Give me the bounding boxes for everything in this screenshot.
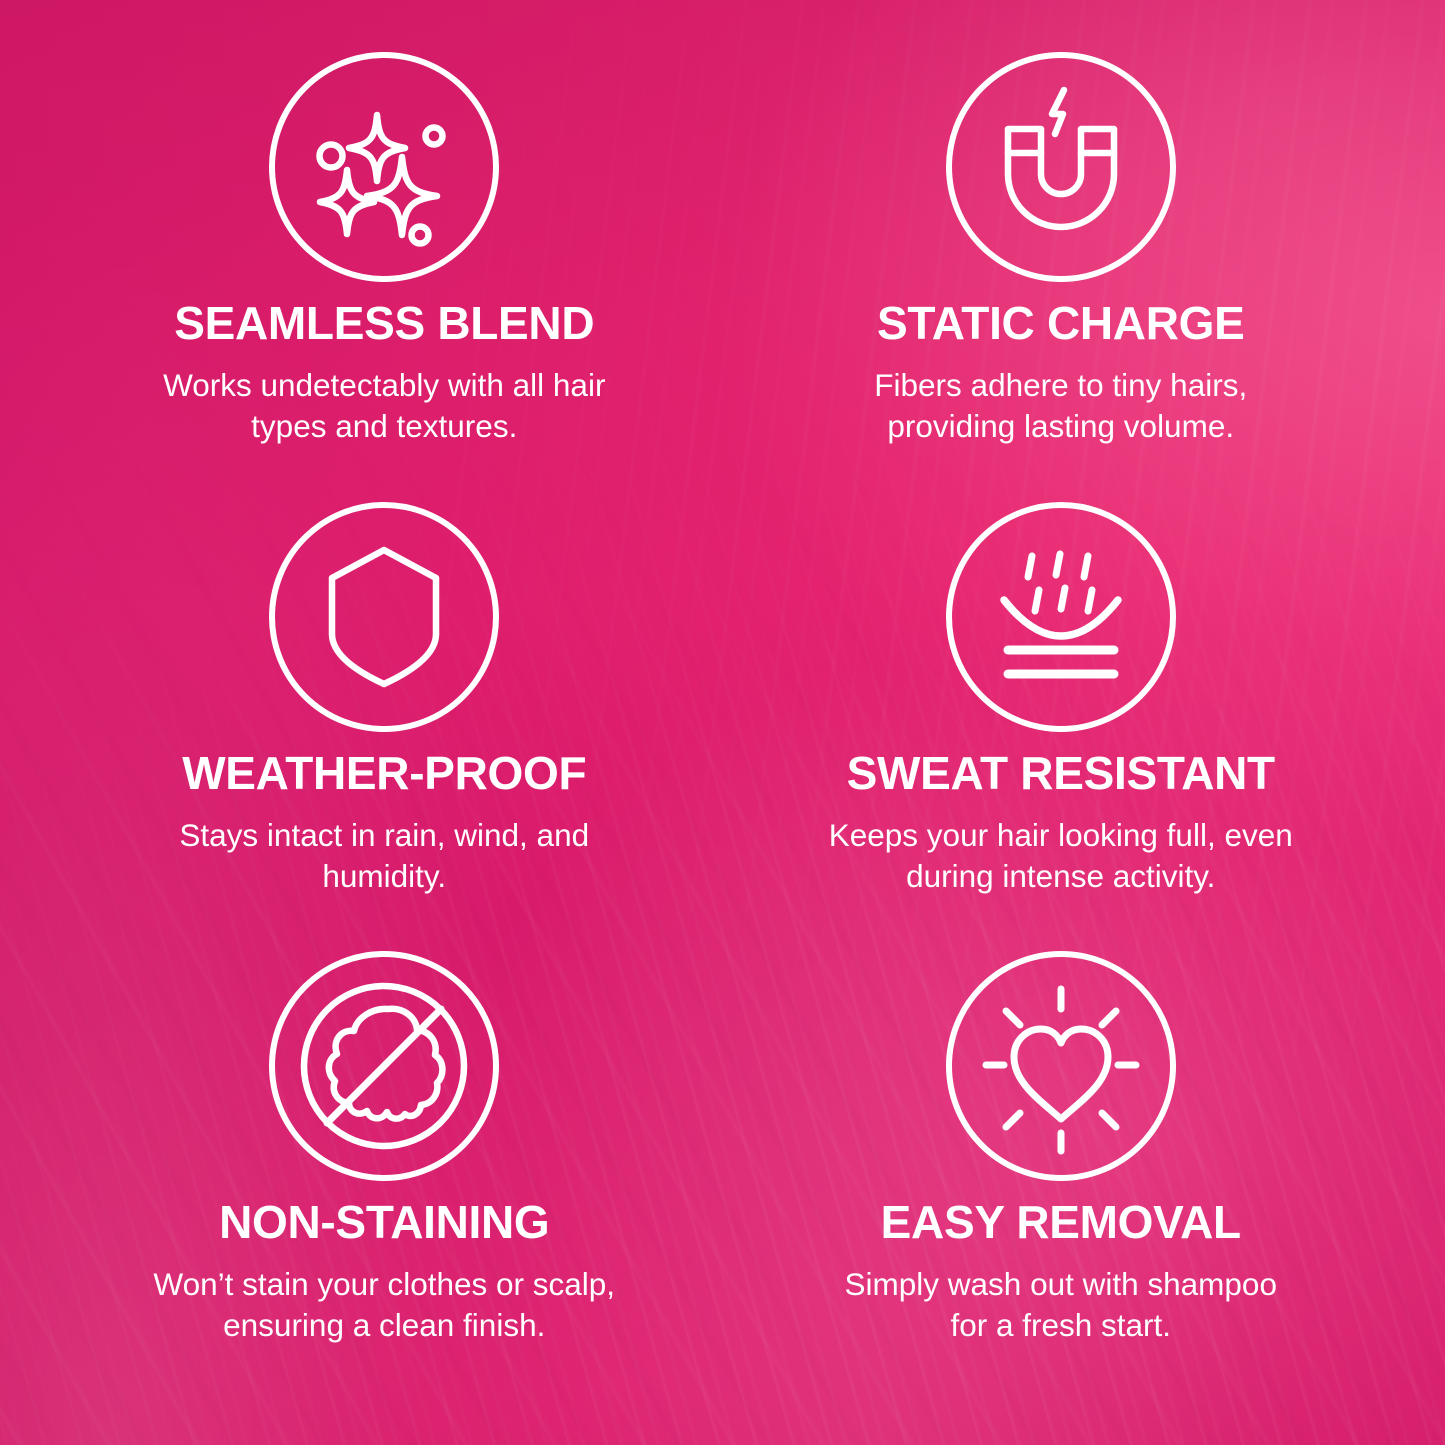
feature-title: WEATHER-PROOF <box>182 750 586 796</box>
features-grid: SEAMLESS BLEND Works undetectably with a… <box>0 0 1445 1445</box>
feature-title: SEAMLESS BLEND <box>174 300 594 346</box>
water-repellent-icon <box>946 502 1176 732</box>
feature-card-non-staining: NON-STAINING Won’t stain your clothes or… <box>46 951 723 1401</box>
feature-description: Stays intact in rain, wind, and humidity… <box>149 815 619 897</box>
feature-grid-infographic: SEAMLESS BLEND Works undetectably with a… <box>0 0 1445 1445</box>
feature-description: Fibers adhere to tiny hairs, providing l… <box>826 365 1296 447</box>
feature-description: Works undetectably with all hair types a… <box>149 365 619 447</box>
feature-title: EASY REMOVAL <box>881 1199 1241 1245</box>
feature-card-weather-proof: WEATHER-PROOF Stays intact in rain, wind… <box>46 502 723 952</box>
feature-title: NON-STAINING <box>219 1199 549 1245</box>
feature-description: Won’t stain your clothes or scalp, ensur… <box>149 1264 619 1346</box>
feature-title: SWEAT RESISTANT <box>847 750 1275 796</box>
feature-card-seamless-blend: SEAMLESS BLEND Works undetectably with a… <box>46 52 723 502</box>
feature-card-easy-removal: EASY REMOVAL Simply wash out with shampo… <box>723 951 1400 1401</box>
no-stain-icon <box>269 951 499 1181</box>
feature-description: Simply wash out with shampoo for a fresh… <box>826 1264 1296 1346</box>
shining-heart-icon <box>946 951 1176 1181</box>
feature-description: Keeps your hair looking full, even durin… <box>826 815 1296 897</box>
feature-card-sweat-resistant: SWEAT RESISTANT Keeps your hair looking … <box>723 502 1400 952</box>
shield-icon <box>269 502 499 732</box>
sparkles-icon <box>269 52 499 282</box>
magnet-icon <box>946 52 1176 282</box>
feature-title: STATIC CHARGE <box>877 300 1245 346</box>
feature-card-static-charge: STATIC CHARGE Fibers adhere to tiny hair… <box>723 52 1400 502</box>
